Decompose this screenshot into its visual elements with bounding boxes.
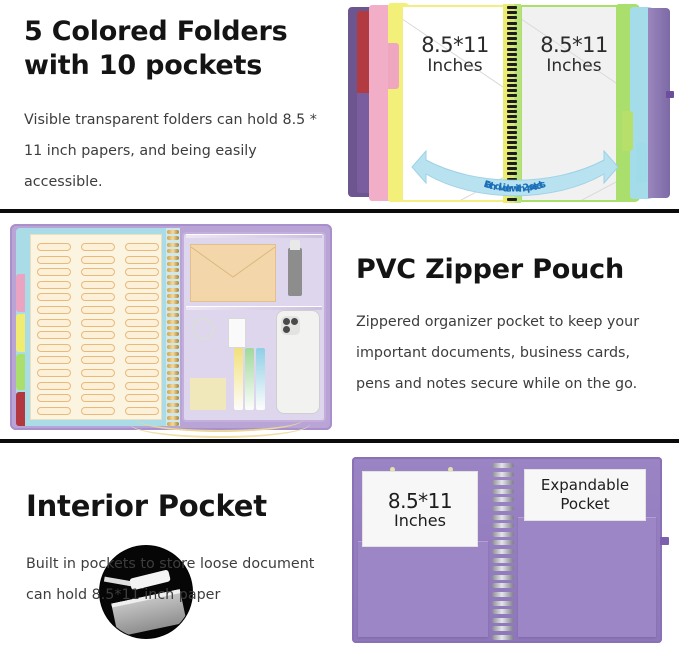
camera-lens-2 [291, 318, 298, 325]
open-planner-illustration [10, 224, 332, 430]
color-tab-yellow [16, 314, 25, 352]
notepad-line-column [125, 243, 159, 419]
spiral-coil [507, 84, 517, 87]
spiral-coil [492, 558, 514, 563]
panel-3-text-block: Interior Pocket Built in pockets to stor… [0, 445, 330, 654]
spiral-coil [167, 396, 179, 400]
spiral-coil [492, 515, 514, 520]
notepad-line [37, 382, 71, 390]
spiral-coil [492, 635, 514, 640]
spiral-coil [507, 68, 517, 71]
notepad-line [37, 293, 71, 301]
panel-1-text-block: 5 Colored Folders with 10 pockets Visibl… [0, 0, 340, 213]
notepad-line [125, 281, 159, 289]
feature-panel-colored-folders: 5 Colored Folders with 10 pockets Visibl… [0, 0, 679, 213]
binder-spiral-binding [492, 463, 514, 637]
spiral-coil [507, 79, 517, 82]
notepad-line [81, 281, 115, 289]
panel-3-heading: Interior Pocket [26, 489, 316, 523]
notepad-line [125, 331, 159, 339]
spiral-coil [167, 268, 179, 272]
spiral-coil [167, 320, 179, 324]
product-feature-infographic: 5 Colored Folders with 10 pockets Visibl… [0, 0, 679, 654]
feature-panel-zipper-pouch: PVC Zipper Pouch Zippered organizer pock… [0, 216, 679, 442]
ring-item [192, 318, 214, 340]
panel-1-heading: 5 Colored Folders with 10 pockets [24, 15, 320, 83]
spiral-coil [492, 532, 514, 537]
divider-tab-blue [636, 143, 647, 183]
spiral-coil [167, 281, 179, 285]
spiral-coil [492, 463, 514, 468]
spiral-coil [507, 74, 517, 77]
notepad-line [81, 268, 115, 276]
spiral-coil [507, 6, 517, 9]
binder-closure-clasp [660, 537, 669, 545]
spiral-coil [507, 110, 517, 113]
spiral-coil [167, 345, 179, 349]
spiral-coil [492, 523, 514, 528]
spiral-coil [507, 32, 517, 35]
spiral-coil [507, 89, 517, 92]
dimension-left-value: 8.5*11 [406, 33, 504, 57]
spiral-coil [507, 42, 517, 45]
expandable-pocket-card: Expandable Pocket [524, 469, 646, 521]
notepad-line [81, 394, 115, 402]
dimension-card-value: 8.5*11 [363, 489, 477, 513]
arrow-caption-text: Each divider with 2 pockets [396, 141, 634, 203]
spiral-coil [492, 472, 514, 477]
notepad-line [37, 344, 71, 352]
notepad-line [125, 369, 159, 377]
notepad-line [37, 394, 71, 402]
spiral-coil [167, 236, 179, 240]
dimension-label-right: 8.5*11 Inches [524, 33, 624, 76]
notepad-line-column [81, 243, 115, 419]
zipper-top [186, 234, 322, 238]
spiral-coil [507, 94, 517, 97]
spiral-coil [167, 332, 179, 336]
camera-lens-1 [283, 318, 290, 325]
spiral-coil [167, 256, 179, 260]
notepad-line [81, 369, 115, 377]
notepad-line [125, 319, 159, 327]
panel-1-heading-line-1: 5 Colored Folders [24, 16, 288, 47]
notepad-line [81, 356, 115, 364]
feature-panel-interior-pocket: Interior Pocket Built in pockets to stor… [0, 445, 679, 654]
divider-tab-pink [388, 43, 399, 89]
envelope-flap-icon [191, 245, 275, 301]
notepad-line [37, 407, 71, 415]
spiral-coil [492, 549, 514, 554]
spiral-coil [492, 506, 514, 511]
notepad-line [81, 382, 115, 390]
section-divider-1 [0, 209, 679, 213]
interior-pocket-right [518, 517, 656, 637]
spiral-coil [167, 243, 179, 247]
panel-2-body-text: Zippered organizer pocket to keep your i… [356, 307, 665, 400]
spiral-coil [507, 58, 517, 61]
color-tab-pink [16, 274, 25, 312]
notepad-line [81, 243, 115, 251]
spiral-coil [167, 249, 179, 253]
spiral-coil [167, 352, 179, 356]
spiral-coil [167, 326, 179, 330]
expandable-card-line-2: Pocket [525, 495, 645, 514]
spiral-coil [507, 27, 517, 30]
usb-drive-item [288, 248, 302, 296]
spiral-coil [167, 371, 179, 375]
notepad-line [37, 369, 71, 377]
binder-clasp-icon [666, 91, 674, 98]
notepad-line [125, 268, 159, 276]
notepad-line [125, 344, 159, 352]
lined-notepad [30, 234, 162, 420]
spiral-coil [492, 497, 514, 502]
camera-lens-3 [283, 326, 290, 333]
color-tab-green [16, 354, 25, 390]
spiral-coil [167, 364, 179, 368]
notepad-line [125, 293, 159, 301]
notepad-line [37, 319, 71, 327]
planner-left-page [16, 228, 168, 426]
spiral-coil [167, 294, 179, 298]
dimension-right-value: 8.5*11 [524, 33, 624, 57]
notepad-line [125, 356, 159, 364]
spiral-coil [167, 300, 179, 304]
spiral-coil [167, 339, 179, 343]
spiral-coil [492, 566, 514, 571]
panel-2-product-image [0, 216, 340, 442]
notepad-line [37, 306, 71, 314]
spiral-coil [507, 120, 517, 123]
panel-2-heading: PVC Zipper Pouch [356, 253, 665, 287]
notepad-line [81, 256, 115, 264]
spiral-coil [492, 618, 514, 623]
notepad-line [81, 344, 115, 352]
spiral-coil [167, 384, 179, 388]
dimension-card-left: 8.5*11 Inches [362, 471, 478, 547]
panel-1-product-image: 8.5*11 Inches 8.5*11 Inches [340, 0, 679, 213]
spiral-coil [492, 575, 514, 580]
notepad-line [81, 331, 115, 339]
notepad-line [125, 382, 159, 390]
dimension-card-unit: Inches [363, 511, 477, 530]
notepad-line [37, 256, 71, 264]
expandable-card-line-1: Expandable [525, 476, 645, 495]
spiral-coil [507, 105, 517, 108]
spiral-coil [507, 48, 517, 51]
dimension-label-left: 8.5*11 Inches [406, 33, 504, 76]
spiral-coil [492, 583, 514, 588]
spiral-coil [507, 22, 517, 25]
spiral-coil [167, 262, 179, 266]
marker-blue [256, 348, 265, 410]
spiral-coil [167, 358, 179, 362]
spiral-coil [167, 230, 179, 234]
panel-1-body-text: Visible transparent folders can hold 8.5… [24, 105, 320, 198]
spiral-coil [492, 592, 514, 597]
spiral-coil [492, 480, 514, 485]
spiral-coil [507, 16, 517, 19]
panel-3-body-text: Built in pockets to store loose document… [26, 549, 316, 611]
spiral-coil [492, 601, 514, 606]
spiral-coil [167, 377, 179, 381]
open-binder-illustration: 8.5*11 Inches 8.5*11 Inches [348, 3, 670, 205]
notepad-line-column [37, 243, 71, 419]
notepad-line [81, 306, 115, 314]
spiral-coil [492, 609, 514, 614]
envelope-item [190, 244, 276, 302]
pockets-callout-arrow: Each divider with 2 pockets [396, 141, 634, 203]
spiral-coil [167, 288, 179, 292]
elastic-cord-2 [136, 406, 304, 432]
spiral-coil [507, 11, 517, 14]
spiral-coil [492, 540, 514, 545]
section-divider-2 [0, 439, 679, 443]
panel-2-text-block: PVC Zipper Pouch Zippered organizer pock… [340, 216, 679, 442]
marker-green [245, 348, 254, 410]
notepad-line [37, 331, 71, 339]
spiral-coil [507, 136, 517, 139]
notepad-line [125, 256, 159, 264]
dimension-left-unit: Inches [406, 56, 504, 76]
spiral-coil [492, 489, 514, 494]
binder-front-cover [648, 8, 670, 198]
spiral-coil [507, 126, 517, 129]
spiral-coil [167, 390, 179, 394]
pvc-zipper-pouch-illustration [182, 232, 326, 422]
color-tab-blue [16, 232, 25, 272]
spiral-coil [507, 131, 517, 134]
smartphone-item [276, 310, 320, 414]
panel-1-heading-line-2: with 10 pockets [24, 50, 262, 81]
notepad-line [37, 268, 71, 276]
spiral-coil [167, 313, 179, 317]
spiral-coil [167, 307, 179, 311]
notepad-line [81, 293, 115, 301]
notepad-line [37, 243, 71, 251]
marker-yellow [234, 348, 243, 410]
spiral-coil [507, 115, 517, 118]
spiral-coil [507, 37, 517, 40]
notepad-line [37, 281, 71, 289]
spiral-coil [492, 626, 514, 631]
camera-module-icon [281, 316, 300, 335]
notepad-line [81, 319, 115, 327]
color-tab-red [16, 392, 25, 426]
interior-pocket-left [358, 541, 488, 637]
spiral-coil [507, 100, 517, 103]
planner-spiral-binding [166, 228, 180, 426]
spiral-coil [507, 53, 517, 56]
notepad-line [81, 407, 115, 415]
purple-binder-interior: 8.5*11 Inches Expandable Pocket [352, 457, 662, 643]
panel-3-product-image: 8.5*11 Inches Expandable Pocket [330, 445, 679, 654]
spiral-coil [507, 63, 517, 66]
notepad-line [125, 394, 159, 402]
spiral-coil [167, 275, 179, 279]
notepad-line [37, 356, 71, 364]
notepad-line [125, 306, 159, 314]
notepad-line [125, 243, 159, 251]
dimension-right-unit: Inches [524, 56, 624, 76]
business-card-item [228, 318, 246, 348]
